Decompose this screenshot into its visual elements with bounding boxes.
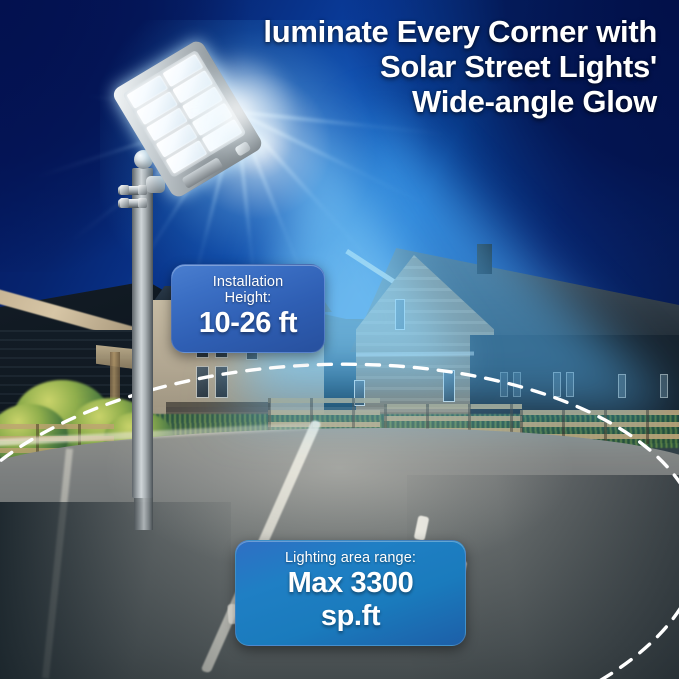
- pole-ubolt-nut: [138, 198, 147, 208]
- callout-installation-height: Installation Height: 10-26 ft: [171, 264, 325, 353]
- callout-installation-height-label: Installation Height:: [192, 274, 304, 306]
- headline-line-1: luminate Every Corner with: [187, 14, 657, 49]
- callout-lighting-area: Lighting area range: Max 3300 sp.ft: [235, 540, 466, 646]
- callout-installation-height-value: 10-26 ft: [192, 307, 304, 340]
- pole-ubolt-nut: [120, 198, 129, 208]
- product-banner: luminate Every Corner with Solar Street …: [0, 0, 679, 679]
- callout-lighting-area-value: Max 3300 sp.ft: [256, 567, 445, 633]
- light-pole: [132, 168, 153, 498]
- center-house-window: [196, 366, 209, 398]
- center-house-window: [215, 366, 228, 398]
- headline: luminate Every Corner with Solar Street …: [187, 14, 657, 119]
- callout-lighting-area-label: Lighting area range:: [256, 550, 445, 566]
- headline-line-3: Wide-angle Glow: [187, 84, 657, 119]
- headline-line-2: Solar Street Lights': [187, 49, 657, 84]
- road-shadow-left: [0, 502, 231, 679]
- pole-ubolt-nut: [120, 185, 129, 195]
- pole-ubolt-nut: [138, 185, 147, 195]
